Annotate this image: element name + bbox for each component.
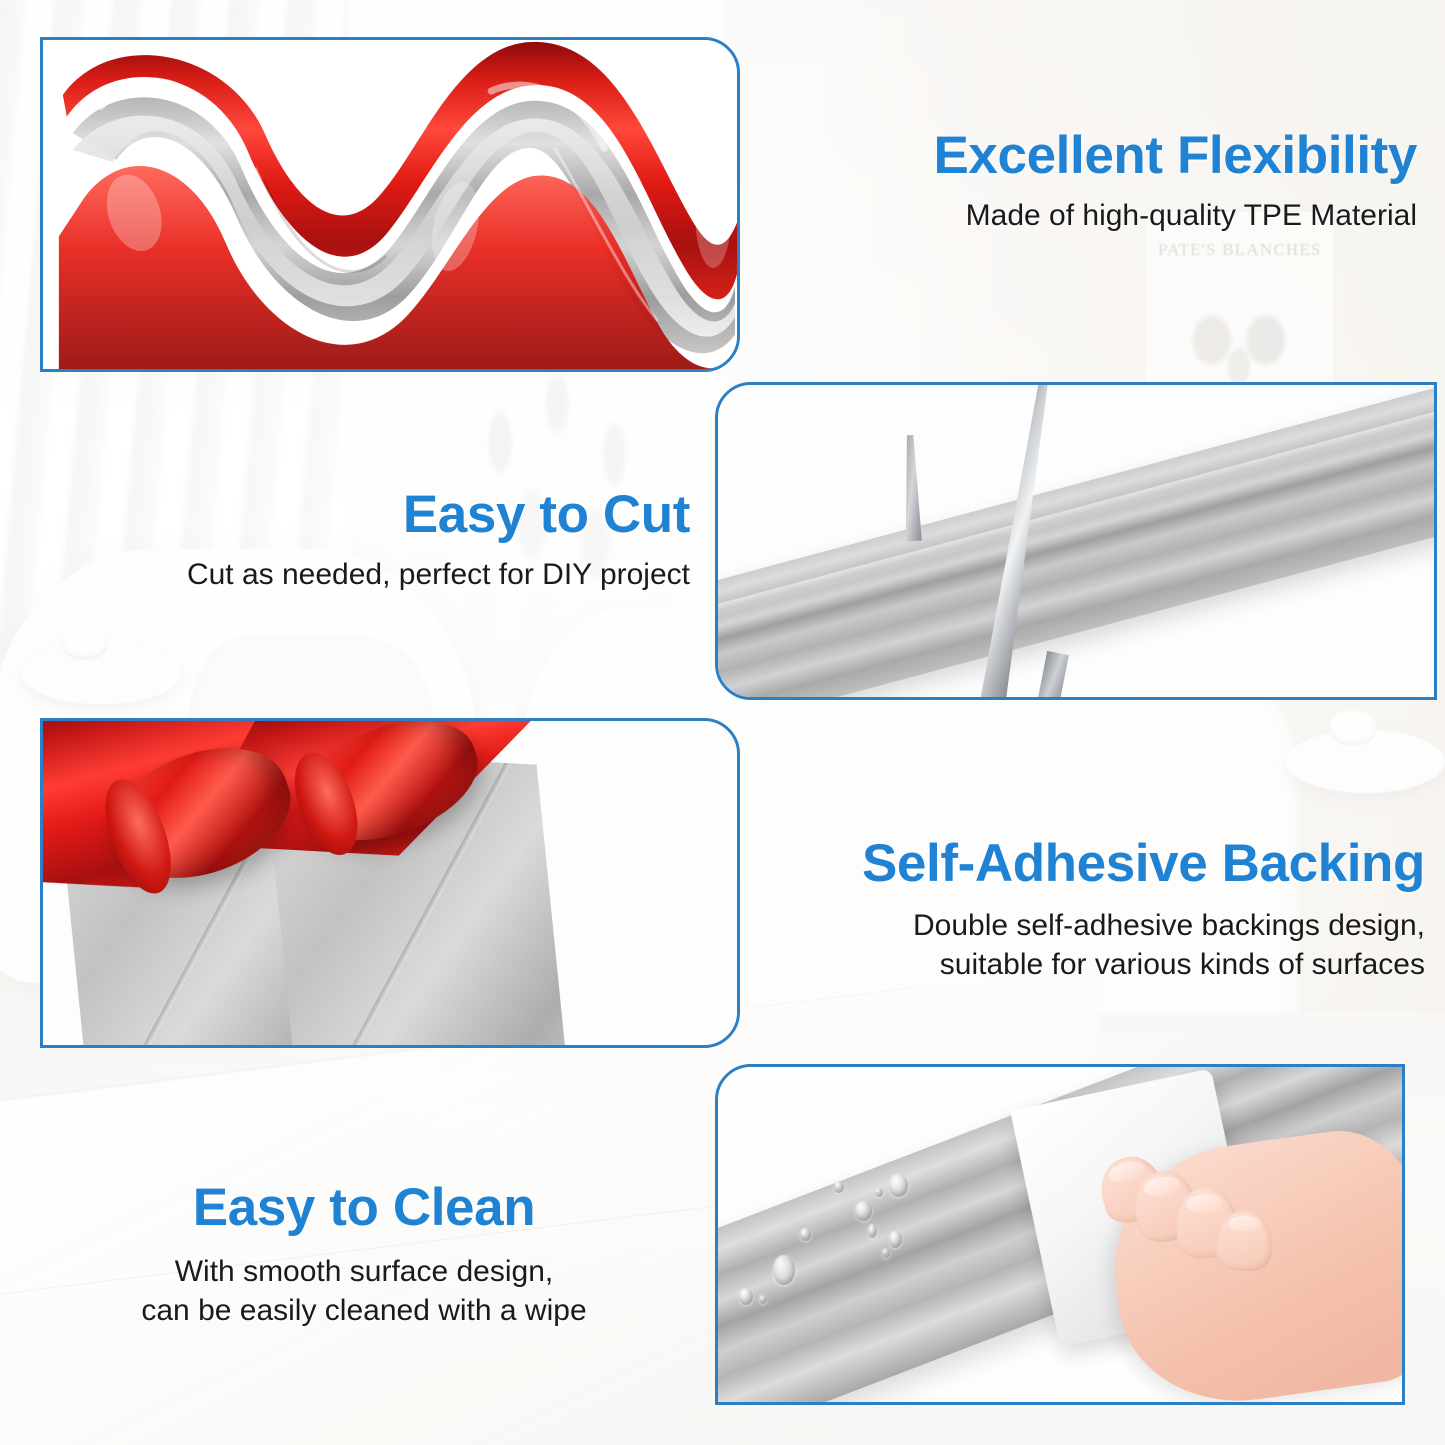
feature-heading-easy-to-clean: Easy to Clean bbox=[34, 1180, 694, 1236]
feature-image-panel-self-adhesive bbox=[40, 718, 740, 1048]
feature-text-self-adhesive: Self-Adhesive Backing Double self-adhesi… bbox=[862, 836, 1425, 985]
fingernail bbox=[1107, 1159, 1146, 1185]
grey-weather-strip bbox=[718, 385, 1434, 697]
water-droplet bbox=[773, 1255, 795, 1285]
feature-heading-self-adhesive: Self-Adhesive Backing bbox=[862, 836, 1425, 892]
feature-heading-flexibility: Excellent Flexibility bbox=[933, 128, 1417, 184]
feature-heading-easy-to-cut: Easy to Cut bbox=[30, 487, 690, 543]
water-droplet bbox=[875, 1188, 883, 1197]
feature-image-panel-flexibility bbox=[40, 37, 740, 372]
feature-subtext-flexibility-line-1: Made of high-quality TPE Material bbox=[933, 196, 1417, 236]
strip-highlight bbox=[718, 385, 1434, 636]
adhesive-backing-photo bbox=[43, 721, 737, 1045]
wavy-strip-illustration bbox=[43, 40, 737, 369]
water-droplet bbox=[855, 1201, 872, 1221]
feature-subtext-easy-to-clean-line-2: can be easily cleaned with a wipe bbox=[34, 1291, 694, 1331]
water-droplet bbox=[800, 1228, 811, 1241]
scissors-cutting-photo bbox=[718, 385, 1434, 697]
feature-image-panel-easy-to-clean bbox=[715, 1064, 1405, 1405]
feature-subtext-self-adhesive-line-2: suitable for various kinds of surfaces bbox=[862, 945, 1425, 985]
feature-subtext-easy-to-clean-line-1: With smooth surface design, bbox=[34, 1252, 694, 1292]
scissors-blade-back bbox=[902, 435, 922, 542]
feature-text-easy-to-clean: Easy to Clean With smooth surface design… bbox=[34, 1180, 694, 1331]
feature-subtext-easy-to-cut-line-1: Cut as needed, perfect for DIY project bbox=[30, 555, 690, 595]
wavy-strip-photo bbox=[43, 40, 737, 369]
scissors-handle bbox=[1033, 651, 1069, 697]
fingernail bbox=[1143, 1174, 1181, 1198]
water-droplet bbox=[739, 1288, 753, 1305]
infographic-canvas: PATE'S BLANCHES bbox=[0, 0, 1445, 1445]
feature-text-easy-to-cut: Easy to Cut Cut as needed, perfect for D… bbox=[30, 487, 690, 594]
feature-subtext-self-adhesive-line-1: Double self-adhesive backings design, bbox=[862, 906, 1425, 946]
wiping-strip-photo bbox=[718, 1067, 1402, 1402]
fingernail bbox=[1187, 1192, 1224, 1213]
water-droplet bbox=[759, 1295, 767, 1304]
feature-text-flexibility: Excellent Flexibility Made of high-quali… bbox=[933, 128, 1417, 235]
fingernail bbox=[1229, 1215, 1261, 1232]
feature-image-panel-easy-to-cut bbox=[715, 382, 1437, 700]
